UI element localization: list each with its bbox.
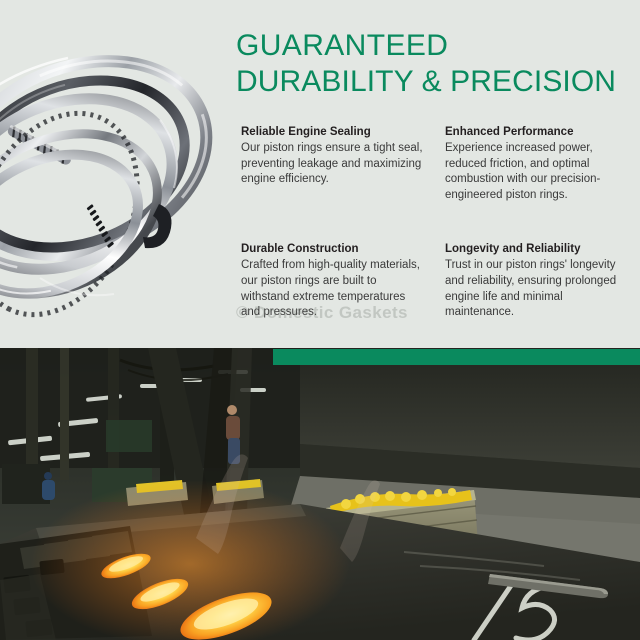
feature-row-top: Reliable Engine Sealing Our piston rings… xyxy=(241,124,631,203)
foundry-illustration xyxy=(0,348,640,640)
feature-longevity-and-reliability: Longevity and Reliability Trust in our p… xyxy=(445,241,631,320)
foundry-factory-image xyxy=(0,348,640,640)
marketing-banner: GUARANTEED DURABILITY & PRECISION Reliab… xyxy=(0,0,640,640)
headline-line-2: DURABILITY & PRECISION xyxy=(236,64,636,100)
feature-body: Experience increased power, reduced fric… xyxy=(445,141,631,203)
feature-title: Reliable Engine Sealing xyxy=(241,124,423,140)
headline-line-1: GUARANTEED xyxy=(236,28,636,64)
green-accent-bar xyxy=(273,349,640,365)
top-content-section: GUARANTEED DURABILITY & PRECISION Reliab… xyxy=(0,0,640,348)
feature-enhanced-performance: Enhanced Performance Experience increase… xyxy=(445,124,631,203)
feature-title: Longevity and Reliability xyxy=(445,241,631,257)
feature-reliable-engine-sealing: Reliable Engine Sealing Our piston rings… xyxy=(241,124,423,203)
feature-body: Our piston rings ensure a tight seal, pr… xyxy=(241,141,423,188)
piston-rings-illustration xyxy=(0,8,234,326)
feature-title: Enhanced Performance xyxy=(445,124,631,140)
piston-rings-product-image xyxy=(0,8,234,326)
page-title: GUARANTEED DURABILITY & PRECISION xyxy=(236,28,636,100)
row-spacer xyxy=(241,203,631,237)
feature-grid: Reliable Engine Sealing Our piston rings… xyxy=(241,124,631,321)
feature-body: Trust in our piston rings' lon­gevity an… xyxy=(445,258,631,320)
feature-title: Durable Construction xyxy=(241,241,423,257)
watermark-text: © Domestic Gaskets xyxy=(236,303,408,323)
